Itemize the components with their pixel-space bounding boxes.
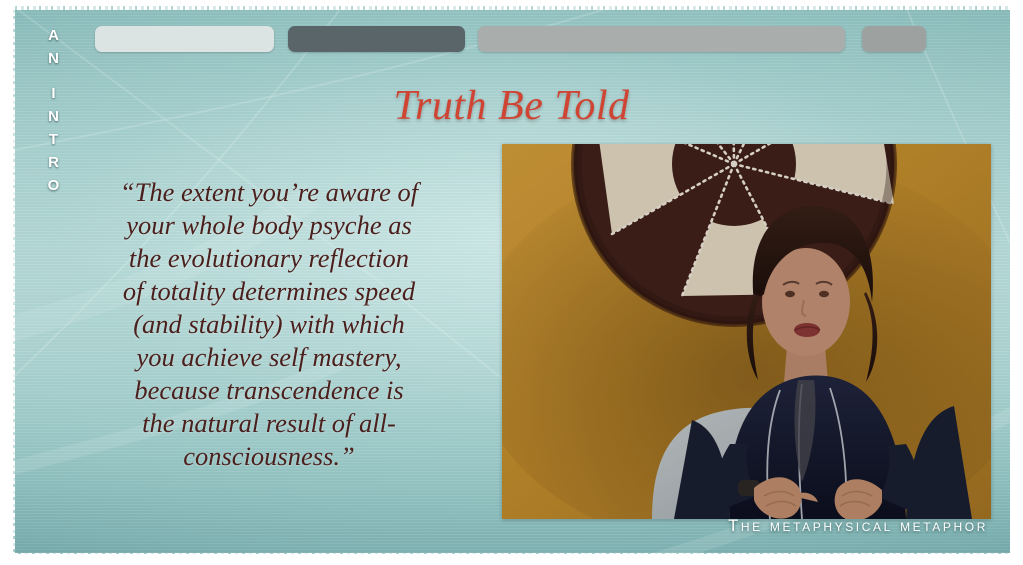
pull-quote: “The extent you’re aware ofyour whole bo… — [69, 176, 469, 473]
quote-line-1: “The extent you’re aware of — [69, 176, 469, 209]
speaker-photo-illustration — [502, 144, 991, 519]
quote-line-8: the natural result of all- — [69, 407, 469, 440]
vertical-label-char-r-6: R — [48, 151, 60, 174]
slide-root: ANINTRO Truth Be Told “The extent you’re… — [0, 0, 1023, 565]
top-bar-2[interactable] — [288, 26, 465, 52]
quote-line-6: you achieve self mastery, — [69, 341, 469, 374]
top-bar-3[interactable] — [478, 26, 845, 52]
vertical-label-char-n-1: N — [48, 47, 60, 70]
speaker-photo — [502, 144, 991, 519]
vertical-label-char-o-7: O — [48, 174, 61, 197]
torn-edge-right — [1010, 0, 1023, 565]
series-caption: The metaphysical metaphor — [728, 517, 988, 536]
quote-line-3: the evolutionary reflection — [69, 242, 469, 275]
torn-edge-bottom — [0, 553, 1023, 565]
top-bar-1[interactable] — [95, 26, 274, 52]
vertical-label-char-a-0: A — [48, 24, 60, 47]
quote-line-7: because transcendence is — [69, 374, 469, 407]
slide-title: Truth Be Told — [13, 82, 1010, 130]
quote-line-9: consciousness.” — [69, 440, 469, 473]
top-bar-4[interactable] — [862, 26, 926, 52]
quote-line-2: your whole body psyche as — [69, 209, 469, 242]
vertical-label-char-t-5: T — [49, 128, 59, 151]
quote-line-4: of totality determines speed — [69, 275, 469, 308]
slide-card: ANINTRO Truth Be Told “The extent you’re… — [13, 6, 1010, 554]
quote-line-5: (and stability) with which — [69, 308, 469, 341]
